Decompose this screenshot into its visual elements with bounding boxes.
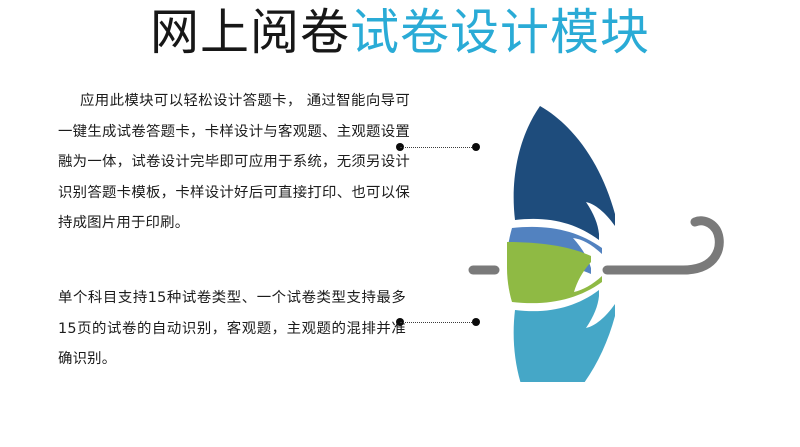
umbrella-panel-green <box>507 242 602 303</box>
body-paragraph-2: 单个科目支持15种试卷类型、一个试卷类型支持最多15页的试卷的自动识别，客观题，… <box>58 283 406 375</box>
umbrella-logo-icon <box>455 92 745 382</box>
slide-canvas: 网上阅卷试卷设计模块 应用此模块可以轻松设计答题卡， 通过智能向导可一键生成试卷… <box>0 0 800 447</box>
body-paragraph-1: 应用此模块可以轻松设计答题卡， 通过智能向导可一键生成试卷答题卡，卡样设计与客观… <box>58 86 410 239</box>
page-title: 网上阅卷试卷设计模块 <box>0 2 800 64</box>
umbrella-panel-navy <box>514 106 615 240</box>
umbrella-handle-hook <box>683 221 719 270</box>
umbrella-panel-teal <box>514 290 615 382</box>
page-title-accent: 试卷设计模块 <box>350 4 650 61</box>
page-title-primary: 网上阅卷 <box>150 4 350 61</box>
